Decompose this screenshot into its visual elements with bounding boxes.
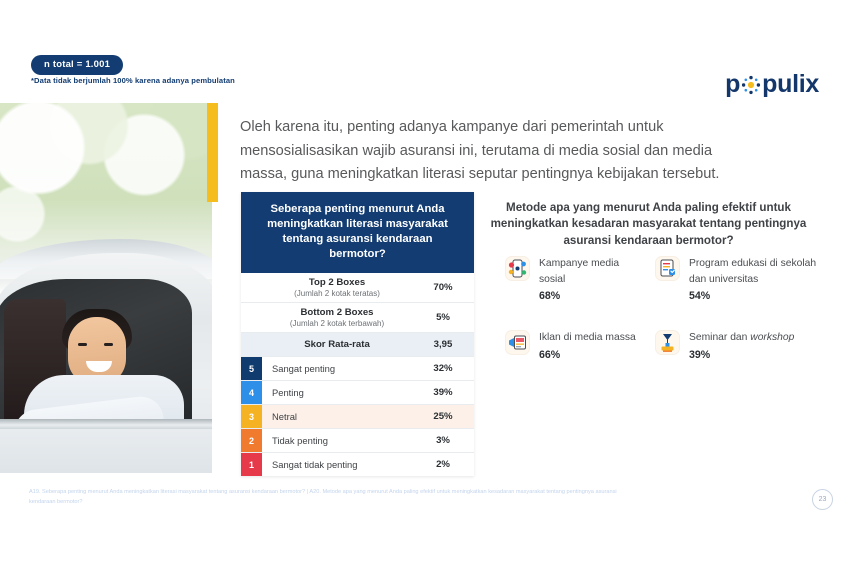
- page-number: 23: [812, 489, 833, 510]
- populix-logo: p pulix: [725, 72, 819, 97]
- methods-heading: Metode apa yang menurut Anda paling efek…: [487, 200, 810, 249]
- method-value: 66%: [539, 347, 636, 363]
- row-label: Sangat penting: [262, 359, 412, 378]
- scale-chip-3: 3: [241, 405, 262, 428]
- seminar-podium-icon: [655, 330, 680, 355]
- education-document-icon: [655, 256, 680, 281]
- scale-chip-placeholder: [241, 303, 262, 332]
- method-text: Seminar dan workshop 39%: [689, 330, 794, 363]
- table-row: 5 Sangat penting 32%: [241, 357, 474, 381]
- scale-chip-5: 5: [241, 357, 262, 380]
- row-value: 2%: [412, 455, 474, 474]
- scale-chip-2: 2: [241, 429, 262, 452]
- method-text: Iklan di media massa 66%: [539, 330, 636, 363]
- row-value: 3%: [412, 431, 474, 450]
- table-row: 2 Tidak penting 3%: [241, 429, 474, 453]
- table-row: 1 Sangat tidak penting 2%: [241, 453, 474, 476]
- table-title: Seberapa penting menurut Anda meningkatk…: [241, 192, 474, 273]
- row-value: 70%: [412, 278, 474, 297]
- row-label: Sangat tidak penting: [262, 455, 412, 474]
- logo-dot-mark-icon: [741, 75, 761, 95]
- method-label-italic: workshop: [750, 332, 794, 343]
- table-row: 3 Netral 25%: [241, 405, 474, 429]
- method-text: Program edukasi di sekolah dan universit…: [689, 256, 825, 304]
- method-text: Kampanye media sosial 68%: [539, 256, 645, 304]
- row-label: Tidak penting: [262, 431, 412, 450]
- method-item-mass-media-ad: Iklan di media massa 66%: [505, 330, 645, 363]
- table-row: Top 2 Boxes (Jumlah 2 kotak teratas) 70%: [241, 273, 474, 303]
- importance-table: Seberapa penting menurut Anda meningkatk…: [241, 192, 474, 476]
- slide: n total = 1.001 *Data tidak berjumlah 10…: [0, 0, 852, 568]
- scale-chip-1: 1: [241, 453, 262, 476]
- row-label-main: Skor Rata-rata: [268, 339, 406, 350]
- photo-car-lower-door: [0, 429, 212, 473]
- method-value: 68%: [539, 288, 645, 304]
- row-value: 5%: [412, 308, 474, 327]
- row-label-sub: (Jumlah 2 kotak teratas): [268, 289, 406, 298]
- source-footnote: A19. Seberapa penting menurut Anda menin…: [29, 487, 644, 508]
- method-value: 39%: [689, 347, 794, 363]
- scale-chip-placeholder: [241, 333, 262, 356]
- photo-car-doorline: [0, 419, 212, 429]
- method-label: Seminar dan: [689, 332, 747, 343]
- table-row-average: Skor Rata-rata 3,95: [241, 333, 474, 357]
- methods-grid: Kampanye media sosial 68% Program edukas…: [505, 256, 825, 363]
- method-item-seminar-workshop: Seminar dan workshop 39%: [655, 330, 825, 363]
- photo-person-eye-right: [104, 343, 113, 346]
- table-row: 4 Penting 39%: [241, 381, 474, 405]
- method-label: Program edukasi di sekolah dan universit…: [689, 258, 816, 285]
- intro-paragraph: Oleh karena itu, penting adanya kampanye…: [240, 116, 740, 187]
- rounding-note: *Data tidak berjumlah 100% karena adanya…: [31, 76, 235, 85]
- scale-chip-placeholder: [241, 273, 262, 302]
- social-media-icon: [505, 256, 530, 281]
- row-value: 3,95: [412, 335, 474, 354]
- logo-text-after: pulix: [762, 72, 819, 97]
- row-label: Bottom 2 Boxes (Jumlah 2 kotak terbawah): [262, 303, 412, 332]
- method-item-social-media: Kampanye media sosial 68%: [505, 256, 645, 304]
- row-label: Skor Rata-rata: [262, 335, 412, 354]
- mass-media-ad-icon: [505, 330, 530, 355]
- logo-text-before: p: [725, 72, 740, 97]
- method-label: Iklan di media massa: [539, 332, 636, 343]
- method-label: Kampanye media sosial: [539, 258, 619, 285]
- row-value: 25%: [412, 407, 474, 426]
- n-total-badge: n total = 1.001: [31, 55, 123, 75]
- yellow-accent-bar: [207, 103, 218, 202]
- photo-person-eye-left: [78, 343, 87, 346]
- row-label: Top 2 Boxes (Jumlah 2 kotak teratas): [262, 273, 412, 302]
- row-label-sub: (Jumlah 2 kotak terbawah): [268, 319, 406, 328]
- method-value: 54%: [689, 288, 825, 304]
- row-label-main: Top 2 Boxes: [268, 277, 406, 288]
- hero-photo-driver: [0, 103, 212, 473]
- row-label: Netral: [262, 407, 412, 426]
- method-item-education-program: Program edukasi di sekolah dan universit…: [655, 256, 825, 304]
- row-label-main: Bottom 2 Boxes: [268, 307, 406, 318]
- row-value: 32%: [412, 359, 474, 378]
- row-value: 39%: [412, 383, 474, 402]
- table-row: Bottom 2 Boxes (Jumlah 2 kotak terbawah)…: [241, 303, 474, 333]
- row-label: Penting: [262, 383, 412, 402]
- scale-chip-4: 4: [241, 381, 262, 404]
